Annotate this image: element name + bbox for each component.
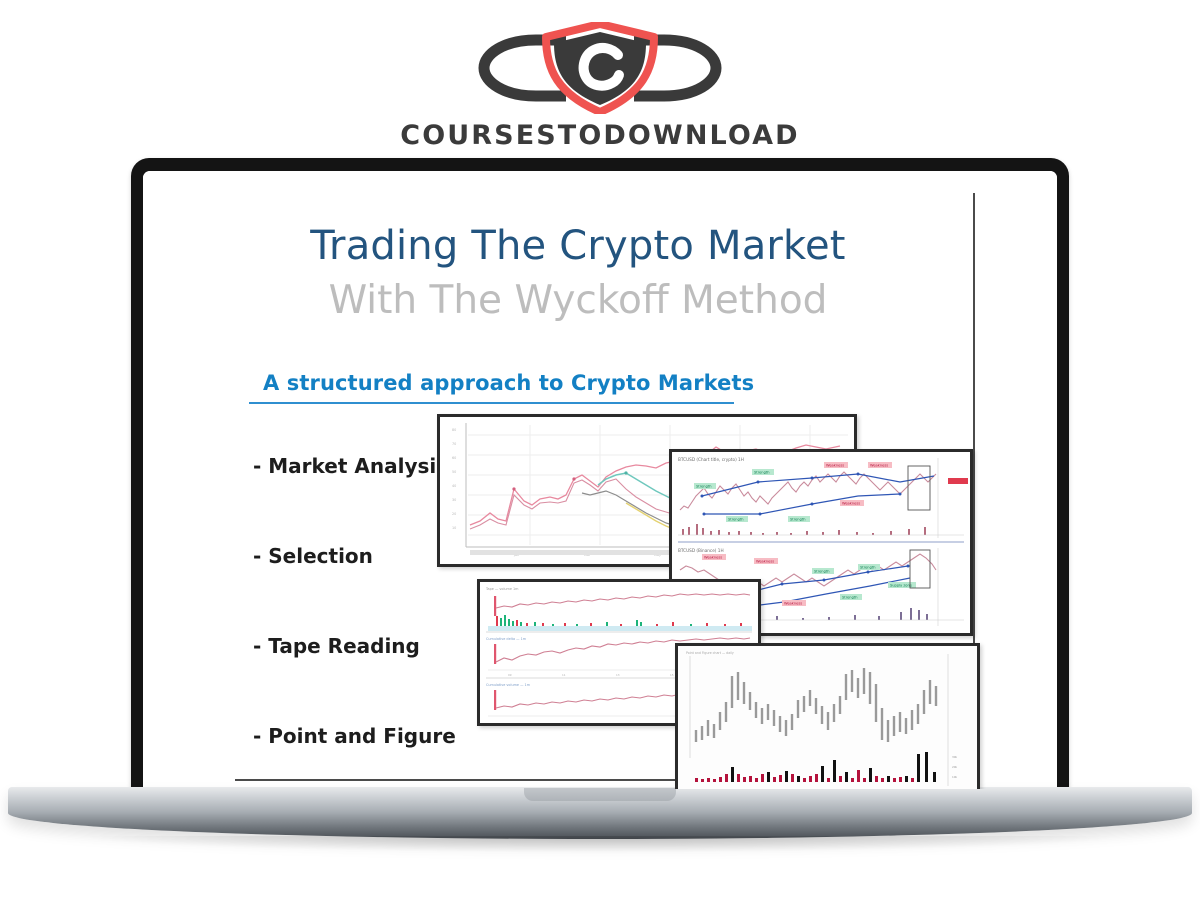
slide-tagline: A structured approach to Crypto Markets (263, 371, 754, 395)
page-root: COURSESTODOWNLOAD Trading The Crypto Mar… (0, 0, 1200, 900)
svg-text:Strength: Strength (814, 570, 830, 574)
svg-text:30k: 30k (952, 755, 958, 759)
brand-wordmark: COURSESTODOWNLOAD (0, 120, 1200, 151)
brand-header: COURSESTODOWNLOAD (0, 10, 1200, 150)
svg-text:09: 09 (508, 673, 512, 677)
shield-c-logo-icon (470, 22, 730, 114)
presentation-slide: Trading The Crypto Market With The Wycko… (143, 171, 1057, 789)
svg-text:Cumulative volume — 1m: Cumulative volume — 1m (486, 683, 531, 687)
laptop-base (8, 787, 1192, 839)
laptop-lid: Trading The Crypto Market With The Wycko… (131, 158, 1069, 793)
svg-text:Weakness: Weakness (756, 560, 774, 564)
svg-text:Strength: Strength (790, 518, 806, 522)
svg-text:Cumulative delta — 1m: Cumulative delta — 1m (486, 637, 527, 641)
svg-text:Weakness: Weakness (870, 464, 888, 468)
svg-text:10: 10 (452, 526, 456, 530)
svg-text:Point and Figure chart — daily: Point and Figure chart — daily (686, 651, 734, 655)
svg-text:Supply zone: Supply zone (890, 584, 913, 588)
svg-text:13: 13 (616, 673, 620, 677)
svg-text:40: 40 (452, 484, 456, 488)
svg-text:Strength: Strength (696, 485, 712, 489)
svg-text:Tape — volume 1m: Tape — volume 1m (485, 587, 519, 591)
svg-text:BTCUSD (Chart title, crypto) 1: BTCUSD (Chart title, crypto) 1H (678, 457, 744, 462)
svg-text:20: 20 (452, 512, 456, 516)
svg-text:Strength: Strength (754, 471, 770, 475)
svg-text:15: 15 (670, 673, 674, 677)
svg-text:Weakness: Weakness (704, 556, 722, 560)
svg-text:Weakness: Weakness (842, 502, 860, 506)
svg-text:10k: 10k (952, 775, 958, 779)
svg-text:Strength: Strength (728, 518, 744, 522)
svg-text:20k: 20k (952, 765, 958, 769)
laptop-mockup: Trading The Crypto Market With The Wycko… (0, 150, 1200, 850)
laptop-screen: Trading The Crypto Market With The Wycko… (143, 171, 1057, 789)
svg-text:30: 30 (452, 498, 456, 502)
laptop-trackpad-notch (524, 788, 676, 801)
svg-text:Strength: Strength (842, 596, 858, 600)
chart-thumbnail-point-and-figure: Point and Figure chart — daily (675, 643, 980, 789)
svg-text:70: 70 (452, 442, 456, 446)
laptop-drop-shadow (90, 836, 1110, 852)
slide-subtitle: With The Wyckoff Method (183, 278, 973, 323)
svg-text:BTCUSD (Binance) 1H: BTCUSD (Binance) 1H (678, 548, 724, 553)
svg-text:50: 50 (452, 470, 456, 474)
tagline-underline (249, 402, 734, 404)
slide-title: Trading The Crypto Market (183, 223, 973, 269)
svg-text:11: 11 (562, 673, 566, 677)
svg-text:60: 60 (452, 456, 456, 460)
svg-text:Weakness: Weakness (784, 602, 802, 606)
svg-text:Strength: Strength (860, 566, 876, 570)
svg-text:Weakness: Weakness (826, 464, 844, 468)
svg-text:80: 80 (452, 428, 456, 432)
